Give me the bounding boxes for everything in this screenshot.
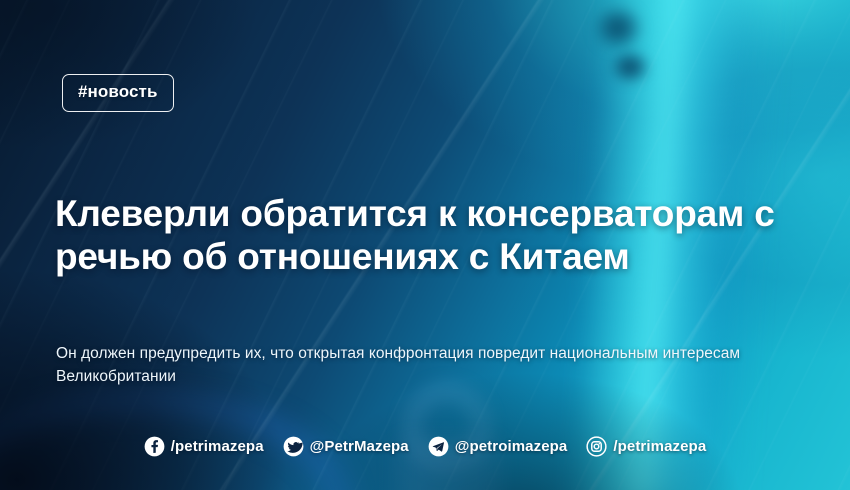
instagram-icon	[586, 436, 607, 457]
social-item-instagram[interactable]: /petrimazepa	[586, 436, 706, 457]
social-handle-telegram: @petroimazepa	[455, 438, 568, 455]
subtitle-text: Он должен предупредить их, что открытая …	[56, 342, 804, 389]
social-handle-instagram: /petrimazepa	[613, 438, 706, 455]
card-content: #новость Клеверли обратится к консервато…	[0, 0, 850, 490]
social-handles-row: /petrimazepa @PetrMazepa	[0, 436, 850, 457]
twitter-icon	[283, 436, 304, 457]
news-card-image: #новость Клеверли обратится к консервато…	[0, 0, 850, 490]
telegram-icon	[428, 436, 449, 457]
headline-text: Клеверли обратится к консерваторам с реч…	[55, 193, 795, 279]
facebook-icon	[144, 436, 165, 457]
social-item-telegram[interactable]: @petroimazepa	[428, 436, 568, 457]
social-item-facebook[interactable]: /petrimazepa	[144, 436, 264, 457]
category-tag-badge[interactable]: #новость	[62, 74, 174, 112]
social-item-twitter[interactable]: @PetrMazepa	[283, 436, 409, 457]
social-handle-facebook: /petrimazepa	[171, 438, 264, 455]
social-handle-twitter: @PetrMazepa	[310, 438, 409, 455]
